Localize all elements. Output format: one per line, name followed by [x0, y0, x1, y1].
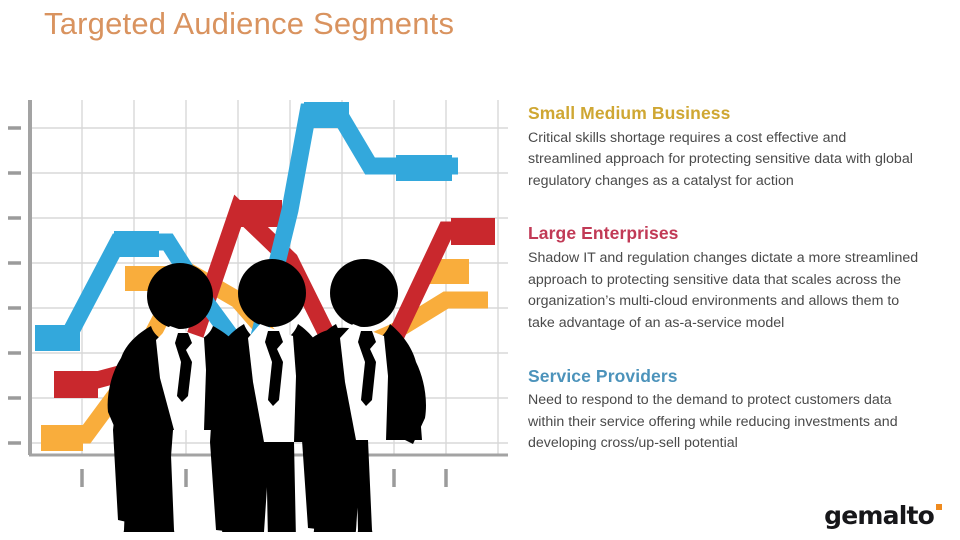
page-title: Targeted Audience Segments: [44, 6, 454, 42]
segment-body-small-medium-business: Critical skills shortage requires a cost…: [528, 128, 920, 193]
segments-column: Small Medium Business Critical skills sh…: [528, 102, 928, 481]
segment-service-providers: Service Providers Need to respond to the…: [528, 365, 928, 455]
gemalto-logo-text: gemalto: [824, 503, 934, 528]
segment-body-large-enterprises: Shadow IT and regulation changes dictate…: [528, 248, 920, 334]
segment-heading-small-medium-business: Small Medium Business: [528, 102, 928, 125]
chart-figure: [8, 100, 508, 532]
segment-heading-service-providers: Service Providers: [528, 365, 928, 388]
segment-small-medium-business: Small Medium Business Critical skills sh…: [528, 102, 928, 192]
segment-body-service-providers: Need to respond to the demand to protect…: [528, 390, 920, 455]
gemalto-logo: gemalto: [824, 503, 942, 528]
gemalto-logo-square-icon: [936, 504, 942, 510]
line-chart: [8, 100, 508, 532]
segment-heading-large-enterprises: Large Enterprises: [528, 222, 928, 245]
segment-large-enterprises: Large Enterprises Shadow IT and regulati…: [528, 222, 928, 334]
